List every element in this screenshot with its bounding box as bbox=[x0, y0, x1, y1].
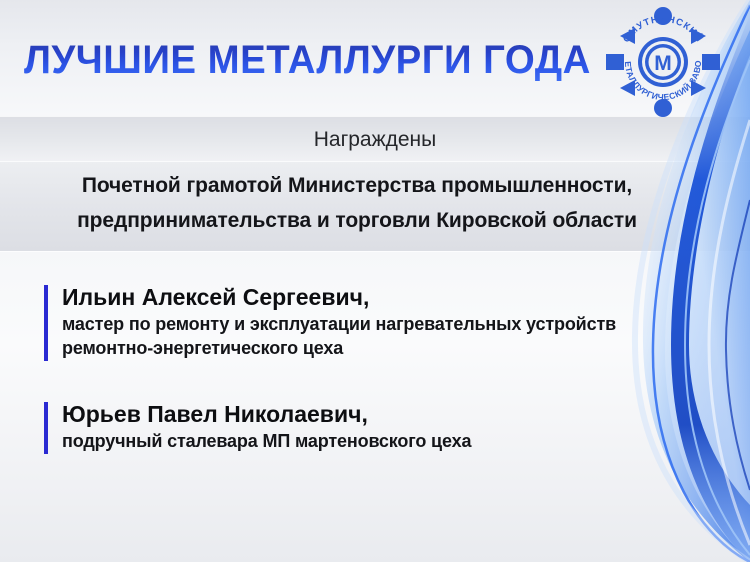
company-logo-omutninsk-metallurgical-plant: ОМУТНИНСКИЙ МЕТАЛЛУРГИЧЕСКИЙ ЗАВОД М bbox=[605, 6, 721, 118]
logo-center-letter: М bbox=[654, 52, 672, 75]
awardee-name-2: Юрьев Павел Николаевич, bbox=[62, 400, 471, 429]
slide-header: ЛУЧШИЕ МЕТАЛЛУРГИ ГОДА bbox=[0, 0, 750, 116]
page-title: ЛУЧШИЕ МЕТАЛЛУРГИ ГОДА bbox=[24, 38, 591, 83]
awardee-role-1-line-1: мастер по ремонту и эксплуатации нагрева… bbox=[62, 312, 616, 336]
awardee-body-2: Юрьев Павел Николаевич, подручный сталев… bbox=[44, 400, 471, 453]
awardee-role-1-line-2: ремонтно-энергетического цеха bbox=[62, 336, 616, 360]
accent-bar-1 bbox=[44, 285, 48, 361]
award-line-1: Почетной грамотой Министерства промышлен… bbox=[0, 168, 714, 203]
divider-line-mid bbox=[0, 161, 750, 162]
slide-canvas: ЛУЧШИЕ МЕТАЛЛУРГИ ГОДА bbox=[0, 0, 750, 562]
awarded-label: Награждены bbox=[0, 128, 750, 152]
award-description: Почетной грамотой Министерства промышлен… bbox=[0, 168, 714, 238]
awardee-entry-1: Ильин Алексей Сергеевич, мастер по ремон… bbox=[44, 283, 616, 360]
awardee-entry-2: Юрьев Павел Николаевич, подручный сталев… bbox=[44, 400, 471, 453]
accent-bar-2 bbox=[44, 402, 48, 454]
divider-line-bottom bbox=[0, 251, 750, 252]
awardee-body-1: Ильин Алексей Сергеевич, мастер по ремон… bbox=[44, 283, 616, 360]
awardee-role-2-line-1: подручный сталевара МП мартеновского цех… bbox=[62, 429, 471, 453]
award-line-2: предпринимательства и торговли Кировской… bbox=[0, 203, 714, 238]
awardee-name-1: Ильин Алексей Сергеевич, bbox=[62, 283, 616, 312]
